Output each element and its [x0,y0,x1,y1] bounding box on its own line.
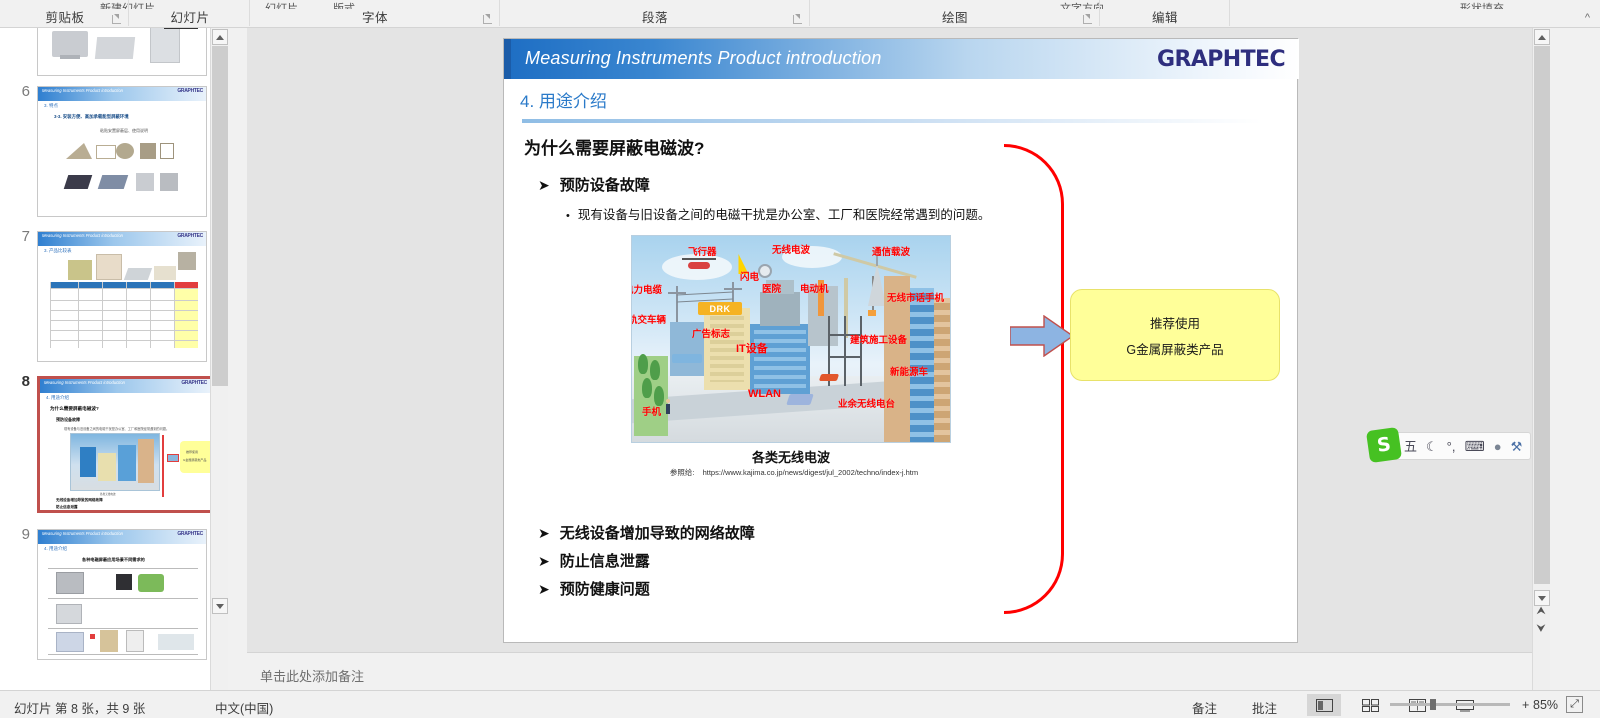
thumbnail-5[interactable] [37,28,207,76]
mini-callout-1: 推荐使用 [186,450,198,454]
thumbnail-number: 8 [8,373,30,390]
notes-placeholder: 单击此处添加备注 [260,666,364,685]
city-label-9: 广告标志 [692,326,730,340]
dot-bullet-icon: • [566,210,570,222]
bullet-info-leak: ➤ 防止信息泄露 [538,550,650,571]
bullet-text: 预防设备故障 [560,174,650,195]
thumbnail-7[interactable]: Measuring Instruments Product introducti… [37,231,207,362]
mini-subtitle: 各种电磁屏蔽应用场景不同需求的 [82,557,145,563]
ime-input-mode-icon[interactable]: 五 [1404,440,1417,453]
city-label-2: 通信载波 [872,244,910,258]
mini-brand: GRAPHTEC [181,380,207,386]
previous-slide-button[interactable]: ⮝ [1533,604,1549,618]
collapse-ribbon-icon[interactable]: ^ [1585,12,1590,24]
bullet-text: 防止信息泄露 [560,550,650,571]
scroll-up-icon [1538,35,1546,40]
mini-note: 粘贴安置屏蔽层、使用说明 [100,128,148,134]
ime-moon-icon[interactable]: ☾ [1426,440,1438,453]
thumbnail-scrollbar[interactable] [210,28,228,690]
bullet-network-failure: ➤ 无线设备增加导致的网络故障 [538,522,755,543]
ribbon-group-editing[interactable]: 编辑 [1100,0,1230,28]
next-slide-button[interactable]: ⮟ [1533,622,1549,636]
mini-section: 4. 用途介绍 [46,395,69,401]
city-label-5: 电动机 [800,281,829,295]
ribbon-group-label: 字体 [362,7,388,26]
main-scroll-up-button[interactable] [1534,29,1550,45]
bullet-text: 无线设备增加导致的网络故障 [560,522,755,543]
mini-bullet-4: 预防健康问题 [56,512,78,513]
zoom-slider[interactable] [1390,703,1510,706]
mini-bullet-2: 无线设备增加导致的网络故障 [56,498,103,503]
thumbnail-scroll-down-button[interactable] [212,598,228,614]
subbullet-text: 现有设备与旧设备之间的电磁干扰是办公室、工厂和医院经常遇到的问题。 [578,204,991,223]
arrow-bullet-icon: ➤ [538,581,550,598]
thumbnail-row-8[interactable]: 8 Measuring Instruments Product introduc… [0,373,228,533]
thumbnail-row-9[interactable]: 9 Measuring Instruments Product introduc… [0,526,228,676]
mini-question: 为什么需要屏蔽电磁波? [50,406,99,412]
thumbnail-number: 7 [8,228,30,245]
city-label-0: 飞行器 [688,244,717,258]
mini-band-title: Measuring Instruments Product introducti… [42,531,123,536]
ribbon-separator [1229,0,1230,26]
ime-punctuation-icon[interactable]: °, [1447,440,1456,453]
mini-brand: GRAPHTEC [177,88,203,94]
notes-toggle[interactable]: 备注 [1192,698,1217,717]
ime-toolbox-icon[interactable]: ⚒ [1511,440,1523,453]
notes-pane[interactable]: 单击此处添加备注 [247,652,1532,690]
comments-toggle[interactable]: 批注 [1252,698,1277,717]
callout-line-1: 推荐使用 [1150,313,1200,332]
previous-slide-icon: ⮝ [1536,606,1545,617]
source-url: https://www.kajima.co.jp/news/digest/jul… [703,468,919,477]
slide-editing-area: Measuring Instruments Product introducti… [247,28,1532,652]
bullet-health: ➤ 预防健康问题 [538,578,650,599]
city-label-10: 建筑施工设备 [850,332,907,346]
ribbon-group-label: 绘图 [942,7,968,26]
thumbnail-row-5[interactable] [0,28,228,38]
scroll-down-icon [216,604,224,609]
mini-section: 4. 用途介绍 [44,546,67,552]
thumbnail-scroll-up-button[interactable] [212,29,228,45]
sogou-logo-icon[interactable]: S [1366,427,1402,463]
arrow-bullet-icon: ➤ [538,553,550,570]
thumbnail-scroll-thumb[interactable] [212,46,228,386]
slide-mini-8: Measuring Instruments Product introducti… [40,379,210,510]
ribbon-group-label: 段落 [642,7,668,26]
city-label-7: 无线市话手机 [887,290,944,304]
thumbnail-row-7[interactable]: 7 Measuring Instruments Product introduc… [0,228,228,378]
mini-callout-2: G金属屏蔽类产品 [183,458,206,462]
city-label-14: 业余无线电台 [838,396,895,410]
arrow-bullet-icon: ➤ [538,525,550,542]
ribbon-group-labels: 剪贴板 幻灯片 字体 段落 绘图 编辑 [0,0,1600,27]
slide-question-heading: 为什么需要屏蔽电磁波? [524,134,704,159]
fit-to-window-button[interactable]: ⤢ [1566,696,1583,713]
city-label-12: 新能源车 [890,364,928,378]
sogou-ime-toolbar[interactable]: S 五 ☾ °, ⌨ ● ⚒ [1373,432,1531,460]
subbullet-emi-interference: • 现有设备与旧设备之间的电磁干扰是办公室、工厂和医院经常遇到的问题。 [566,204,990,223]
slide-band-title: Measuring Instruments Product introducti… [525,48,882,69]
city-label-11: IT设备 [736,340,768,356]
bullet-prevent-equipment-failure: ➤ 预防设备故障 [538,174,650,195]
slide-section-title: 4. 用途介绍 [520,87,607,112]
slide-sorter-icon [1362,699,1379,712]
thumbnail-number: 9 [8,526,30,543]
main-scrollbar[interactable] [1532,28,1550,690]
ribbon-group-clipboard[interactable]: 剪贴板 [0,0,130,28]
language-indicator[interactable]: 中文(中国) [215,698,273,717]
ribbon-group-drawing[interactable]: 绘图 [810,0,1100,28]
thumbnail-row-6[interactable]: 6 Measuring Instruments Product introduc… [0,83,228,233]
slide-mini-6: Measuring Instruments Product introducti… [38,87,206,216]
slide-mini-7: Measuring Instruments Product introducti… [38,232,206,361]
mini-band-title: Measuring Instruments Product introducti… [44,380,125,385]
fit-to-window-icon: ⤢ [1570,698,1579,711]
zoom-level[interactable]: 85% [1533,698,1558,712]
ribbon-group-label: 编辑 [1152,7,1178,26]
red-brace-shape [1004,144,1064,614]
mini-section: 3. 特点 [44,103,58,109]
slide-thumbnail-pane: 6 Measuring Instruments Product introduc… [0,28,228,690]
slide-mini-9: Measuring Instruments Product introducti… [38,530,206,659]
ribbon-group-label: 幻灯片 [170,7,209,26]
normal-view-icon [1316,699,1333,712]
view-slide-sorter-button[interactable] [1353,694,1387,716]
ribbon-separator [128,0,129,26]
mini-section: 3. 产品比较表 [44,248,72,254]
thumbnail-6[interactable]: Measuring Instruments Product introducti… [37,86,207,217]
ribbon-group-font[interactable]: 字体 [250,0,500,28]
city-label-15: 手机 [642,404,661,418]
font-dialog-launcher-icon[interactable] [483,15,492,24]
source-prefix: 参照给: [670,468,695,477]
mini-band-title: Measuring Instruments Product introducti… [42,88,123,93]
mini-caption: 各类无线电波 [100,492,116,496]
clipboard-dialog-launcher-icon[interactable] [112,15,121,24]
mini-band: Measuring Instruments Product introducti… [38,530,206,544]
ribbon: 新建幻灯片 幻灯片 版式 文字方向 形状填充 剪贴板 幻灯片 字体 段落 绘图 … [0,0,1600,28]
mini-brand: GRAPHTEC [177,531,203,537]
mini-band: Measuring Instruments Product introducti… [38,87,206,101]
view-normal-button[interactable] [1307,694,1341,716]
city-label-6: 电力电缆 [631,282,662,296]
ribbon-group-slides[interactable]: 幻灯片 [130,0,250,28]
illustration-caption: 各类无线电波 [631,447,951,466]
paragraph-dialog-launcher-icon[interactable] [793,15,802,24]
mini-subtitle: 3-3. 安装方便、高加承载能型屏蔽环境 [54,114,129,120]
powerpoint-window: 新建幻灯片 幻灯片 版式 文字方向 形状填充 剪贴板 幻灯片 字体 段落 绘图 … [0,0,1600,718]
mini-bullet-1: 预防设备故障 [56,417,80,423]
graphtec-logo: GRAPHTEC [1157,47,1285,72]
section-underline [522,119,1262,123]
ime-user-icon[interactable]: ● [1494,440,1502,453]
drawing-dialog-launcher-icon[interactable] [1083,15,1092,24]
zoom-plus[interactable]: + [1522,698,1529,712]
illustration-source: 参照给: https://www.kajima.co.jp/news/diges… [584,467,1004,478]
thumbnail-8-selected[interactable]: Measuring Instruments Product introducti… [37,376,213,513]
recommendation-callout: 推荐使用 G金属屏蔽类产品 [1070,289,1280,381]
thumbnail-list: 6 Measuring Instruments Product introduc… [0,28,228,690]
city-label-3: 闪电 [740,269,759,283]
slide-mini-5 [38,28,206,75]
ribbon-group-label: 剪贴板 [45,7,84,26]
callout-line-2: G金属屏蔽类产品 [1126,339,1223,358]
slide-counter: 幻灯片 第 8 张，共 9 张 [14,698,145,717]
city-label-1: 无线电波 [772,242,810,256]
zoom-slider-knob[interactable] [1430,699,1436,710]
main-scroll-thumb[interactable] [1534,46,1550,584]
thumbnail-9[interactable]: Measuring Instruments Product introducti… [37,529,207,660]
ime-keyboard-icon[interactable]: ⌨ [1464,439,1484,453]
ribbon-group-paragraph[interactable]: 段落 [500,0,810,28]
mini-bullet-3: 防止信息泄露 [56,505,78,510]
mini-band: Measuring Instruments Product introducti… [40,379,210,393]
scroll-up-icon [216,35,224,40]
city-label-4: 医院 [762,281,781,295]
thumbnail-number: 6 [8,83,30,100]
blue-arrow-shape [1010,315,1074,357]
mini-subbullet: 现有设备与旧设备之间的电磁干扰是办公室、工厂和医院经常遇到的问题。 [64,426,169,431]
radio-wave-city-illustration: DRK 飞行器 无线电波 通信载波 闪电 医院 电动机 电力电缆 无线市话手机 … [631,235,951,443]
scroll-down-icon [1538,596,1546,601]
arrow-bullet-icon: ➤ [538,177,550,194]
next-slide-icon: ⮟ [1536,624,1545,635]
city-label-8: 轨交车辆 [631,312,666,326]
city-label-13: WLAN [748,388,781,400]
bullet-text: 预防健康问题 [560,578,650,599]
mini-brand: GRAPHTEC [177,233,203,239]
status-bar: 幻灯片 第 8 张，共 9 张 中文(中国) 备注 批注 [0,690,1600,718]
mini-band: Measuring Instruments Product introducti… [38,232,206,246]
current-slide[interactable]: Measuring Instruments Product introducti… [503,38,1298,643]
mini-band-title: Measuring Instruments Product introducti… [42,233,123,238]
